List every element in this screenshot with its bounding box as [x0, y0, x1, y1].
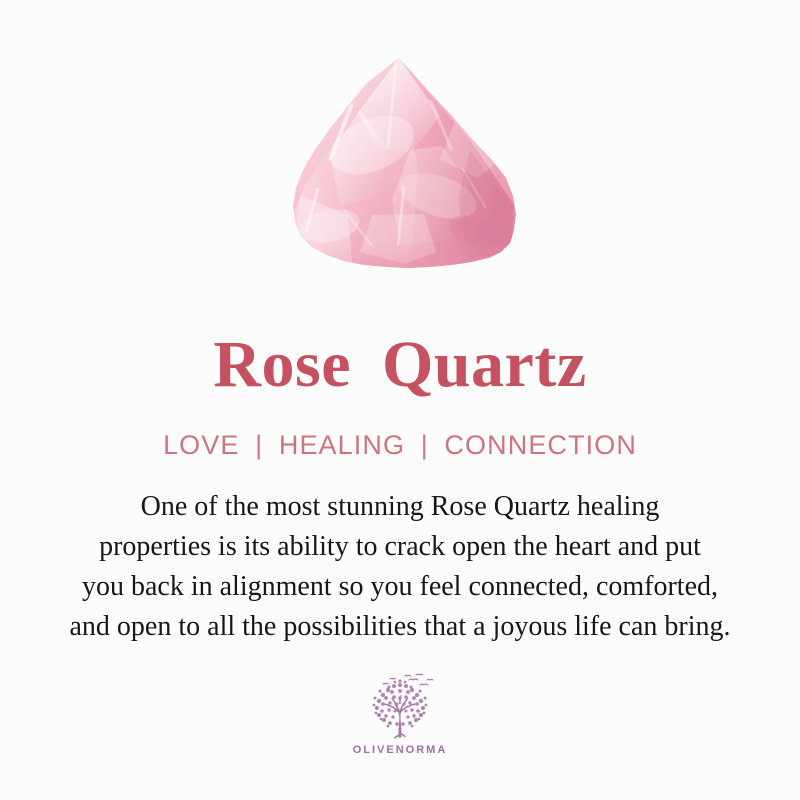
description-text: One of the most stunning Rose Quartz hea… — [30, 487, 770, 647]
bird-icon — [383, 683, 388, 684]
rose-quartz-info-card: Rose Quartz LOVE | HEALING | CONNECTION … — [0, 0, 800, 800]
crystal-image-container — [0, 0, 800, 310]
brand-logo: OLIVENORMA — [353, 671, 448, 756]
description-line: properties is its ability to crack open … — [30, 527, 770, 567]
tree-of-life-icon — [359, 671, 441, 743]
page-title: Rose Quartz — [213, 332, 586, 398]
crystal-body — [280, 45, 540, 285]
description-line: you back in alignment so you feel connec… — [30, 567, 770, 607]
description-line: One of the most stunning Rose Quartz hea… — [30, 487, 770, 527]
bird-icon — [409, 679, 418, 680]
rose-quartz-crystal-image — [0, 0, 800, 310]
keyword-healing: HEALING — [279, 430, 405, 460]
bird-icon — [390, 678, 396, 679]
keyword-love: LOVE — [163, 430, 239, 460]
bird-icon — [405, 675, 411, 676]
brand-wordmark: OLIVENORMA — [353, 744, 448, 756]
bird-icon — [427, 679, 433, 680]
bird-icon — [420, 684, 428, 685]
bird-icon — [416, 674, 423, 675]
keyword-separator-2: | — [414, 430, 436, 460]
keyword-connection: CONNECTION — [444, 430, 637, 460]
keyword-separator-1: | — [248, 430, 270, 460]
description-line: and open to all the possibilities that a… — [30, 607, 770, 647]
keyword-tagline: LOVE | HEALING | CONNECTION — [163, 430, 637, 461]
